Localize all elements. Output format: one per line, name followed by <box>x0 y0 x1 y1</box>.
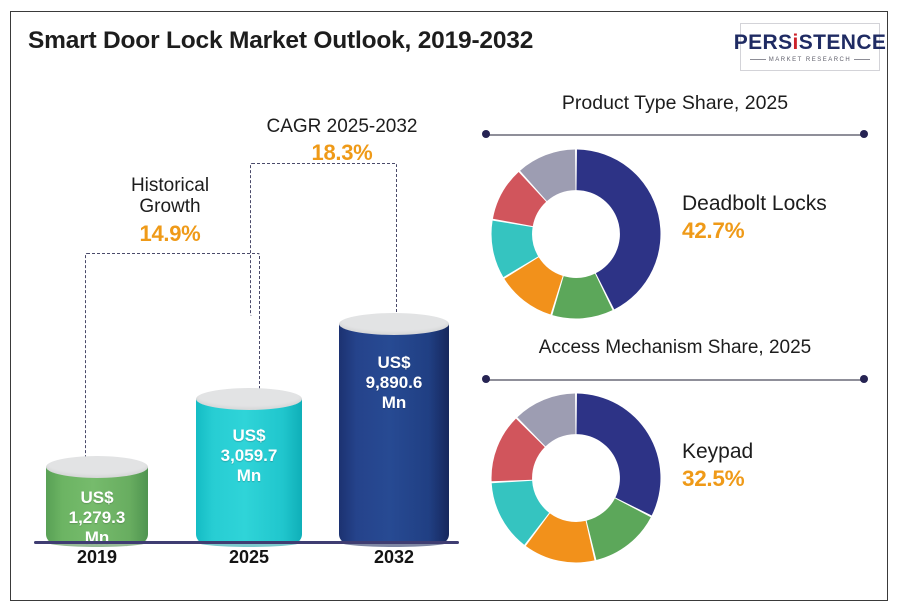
logo-rule-right <box>854 59 870 60</box>
access-mechanism-legend: Keypad 32.5% <box>682 440 872 492</box>
access-mechanism-divider <box>482 375 868 384</box>
bar-2025-value-line2: 3,059.7 <box>196 446 302 466</box>
logo-word-post: STENCE <box>799 31 887 54</box>
product-type-divider <box>482 130 868 139</box>
product-type-divider-dot-left <box>482 130 490 138</box>
bar-2019-value-line1: US$ <box>46 488 148 508</box>
product-type-legend-name: Deadbolt Locks <box>682 192 872 216</box>
product-type-legend: Deadbolt Locks 42.7% <box>682 192 872 244</box>
product-type-divider-line <box>486 134 864 136</box>
access-mechanism-legend-name: Keypad <box>682 440 872 464</box>
logo-word-pre: PERS <box>734 31 793 54</box>
cagr-bracket <box>250 163 397 316</box>
x-tick-2025: 2025 <box>196 547 302 568</box>
bar-2032: US$ 9,890.6 Mn <box>339 313 449 542</box>
bar-2032-top-cap <box>339 313 449 335</box>
access-mechanism-divider-dot-left <box>482 375 490 383</box>
historical-growth-label: Historical Growth <box>100 175 240 218</box>
logo-subtitle-row: MARKET RESEARCH <box>750 57 870 63</box>
bar-2019-value-line2: 1,279.3 <box>46 508 148 528</box>
bar-2019-value-line3: Mn <box>46 528 148 548</box>
bar-2025-top-cap <box>196 388 302 410</box>
donut-slice <box>576 394 660 516</box>
bar-2032-value-line1: US$ <box>339 353 449 373</box>
access-mechanism-share-title: Access Mechanism Share, 2025 <box>470 337 880 359</box>
cagr-label: CAGR 2025-2032 <box>237 116 447 137</box>
bar-2032-value-line3: Mn <box>339 393 449 413</box>
access-mechanism-divider-dot-right <box>860 375 868 383</box>
bar-2019-top-cap <box>46 456 148 478</box>
bar-2025-value-line1: US$ <box>196 426 302 446</box>
product-type-share-panel: Product Type Share, 2025 Deadbolt Locks … <box>470 92 880 337</box>
bar-2025: US$ 3,059.7 Mn <box>196 388 302 542</box>
x-axis-baseline <box>34 541 459 544</box>
bar-2025-value-line3: Mn <box>196 466 302 486</box>
access-mechanism-divider-line <box>486 379 864 381</box>
bar-2019-value-label: US$ 1,279.3 Mn <box>46 488 148 548</box>
bar-2019: US$ 1,279.3 Mn <box>46 456 148 542</box>
product-type-divider-dot-right <box>860 130 868 138</box>
infographic-root: Smart Door Lock Market Outlook, 2019-203… <box>0 0 900 614</box>
logo-wordmark: PERSiSTENCE <box>734 32 887 53</box>
logo-rule-left <box>750 59 766 60</box>
product-type-share-title: Product Type Share, 2025 <box>470 92 880 115</box>
page-title: Smart Door Lock Market Outlook, 2019-203… <box>28 27 533 55</box>
access-mechanism-donut-chart <box>488 387 664 569</box>
product-type-legend-pct: 42.7% <box>682 218 872 244</box>
product-type-donut-chart <box>488 146 664 322</box>
x-tick-2032: 2032 <box>339 547 449 568</box>
persistence-market-research-logo: PERSiSTENCE MARKET RESEARCH <box>740 23 880 71</box>
bar-2032-value-label: US$ 9,890.6 Mn <box>339 353 449 413</box>
historical-growth-annotation: Historical Growth 14.9% <box>100 175 240 247</box>
cagr-value: 18.3% <box>237 140 447 166</box>
bar-2032-value-line2: 9,890.6 <box>339 373 449 393</box>
x-tick-2019: 2019 <box>46 547 148 568</box>
cagr-annotation: CAGR 2025-2032 18.3% <box>237 116 447 166</box>
bar-chart-panel: Historical Growth 14.9% CAGR 2025-2032 1… <box>12 88 464 588</box>
access-mechanism-share-panel: Access Mechanism Share, 2025 Keypad 32.5… <box>470 337 880 589</box>
bar-2025-value-label: US$ 3,059.7 Mn <box>196 426 302 486</box>
logo-subtitle: MARKET RESEARCH <box>769 57 851 63</box>
historical-growth-value: 14.9% <box>100 221 240 247</box>
access-mechanism-legend-pct: 32.5% <box>682 466 872 492</box>
